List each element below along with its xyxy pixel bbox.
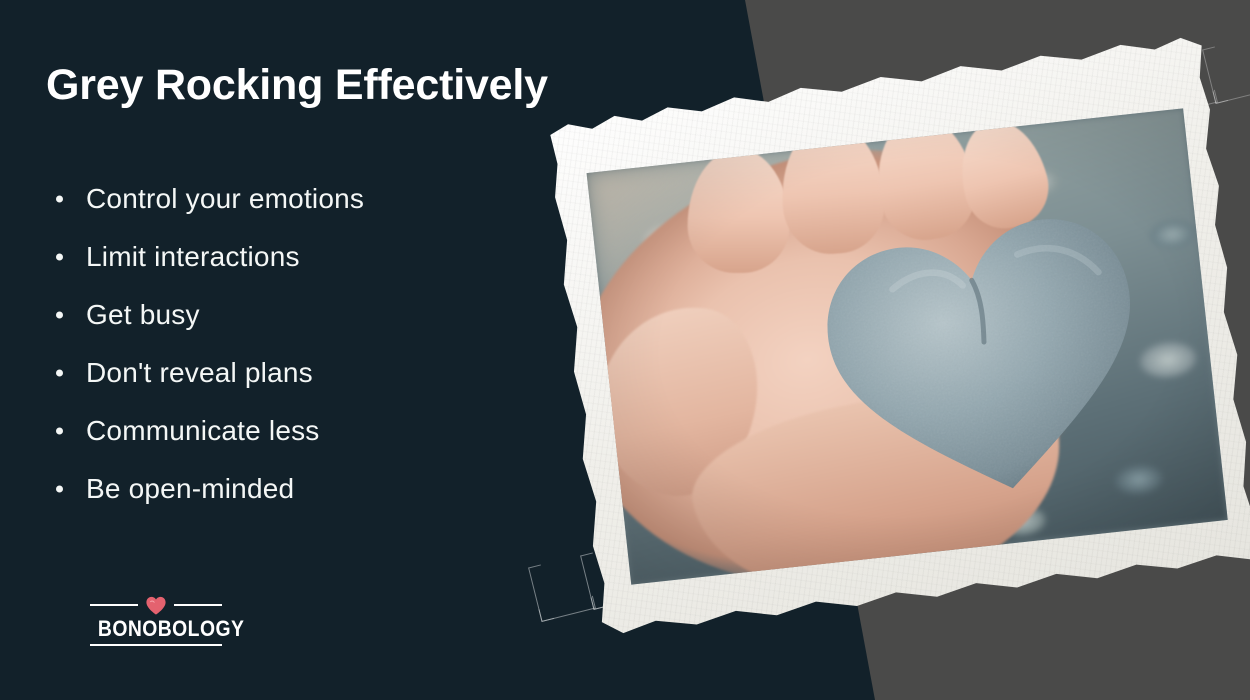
torn-paper-photo: Page 2 erwriter and joint Bookrunner [538,27,1250,644]
photo-image [587,108,1228,584]
list-item-label: Don't reveal plans [86,357,313,388]
list-item: Control your emotions [46,170,364,228]
page-title: Grey Rocking Effectively [46,62,548,109]
list-item: Limit interactions [46,228,364,286]
list-item-label: Be open-minded [86,473,294,504]
logo-top-rule-row [90,596,222,614]
logo-bottom-rule [90,644,222,646]
bullet-dot-icon [56,370,63,377]
bullet-dot-icon [56,196,63,203]
logo-rule-right [174,604,222,606]
heart-icon [145,596,167,615]
bullet-dot-icon [56,312,63,319]
list-item-label: Limit interactions [86,241,300,272]
list-item: Get busy [46,286,364,344]
logo-rule-left [90,604,138,606]
logo-wordmark: BONOBOLOGY [98,617,214,640]
list-item: Be open-minded [46,460,364,518]
list-item: Don't reveal plans [46,344,364,402]
list-item-label: Get busy [86,299,200,330]
brand-logo[interactable]: BONOBOLOGY [90,596,222,646]
list-item-label: Control your emotions [86,183,364,214]
bullet-dot-icon [56,428,63,435]
list-item: Communicate less [46,402,364,460]
list-item-label: Communicate less [86,415,320,446]
bullet-dot-icon [56,486,63,493]
tips-list: Control your emotions Limit interactions… [46,170,364,518]
slide-canvas: Grey Rocking Effectively Control your em… [0,0,1250,700]
bullet-dot-icon [56,254,63,261]
